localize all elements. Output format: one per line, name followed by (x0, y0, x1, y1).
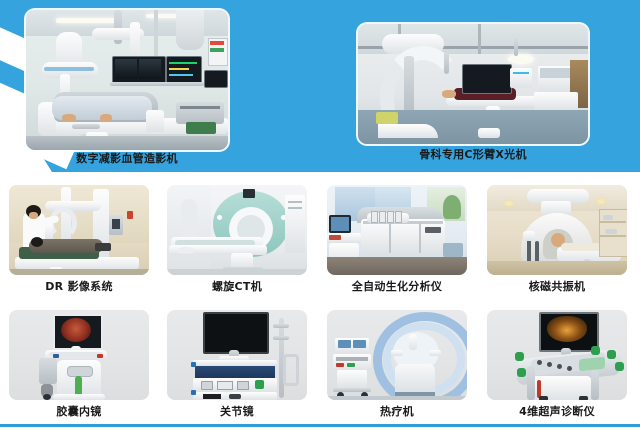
equipment-showcase-page: 数字减影血管造影机 骨科专用C形臂X光机 (0, 0, 640, 431)
thumb-photo-analyzer[interactable] (327, 185, 467, 275)
thumb-photo-ct[interactable] (167, 185, 307, 275)
thumb-photo-arthro[interactable] (167, 310, 307, 400)
grid-cell-analyzer[interactable]: 全自动生化分析仪 (322, 185, 472, 294)
thumb-photo-mri[interactable] (487, 185, 627, 275)
grid-caption-capsule: 胶囊内镜 (4, 405, 154, 419)
hero-caption-c-arm: 骨科专用C形臂X光机 (358, 148, 588, 162)
grid-cell-arthro[interactable]: 关节镜 (162, 310, 312, 419)
hero-caption-dsa: 数字减影血管造影机 (26, 152, 228, 166)
grid-cell-ultrasound[interactable]: 4维超声诊断仪 (482, 310, 632, 419)
grid-caption-hyperthermia: 热疗机 (322, 405, 472, 419)
grid-caption-mri: 核磁共振机 (482, 280, 632, 294)
grid-cell-hyperthermia[interactable]: 热疗机 (322, 310, 472, 419)
grid-cell-ct[interactable]: 螺旋CT机 (162, 185, 312, 294)
grid-caption-ct: 螺旋CT机 (162, 280, 312, 294)
grid-cell-dr[interactable]: DR 影像系统 (4, 185, 154, 294)
grid-caption-ultrasound: 4维超声诊断仪 (482, 405, 632, 419)
grid-cell-mri[interactable]: 核磁共振机 (482, 185, 632, 294)
thumb-photo-dr[interactable] (9, 185, 149, 275)
hero-photo-dsa[interactable] (26, 10, 228, 150)
grid-cell-capsule[interactable]: 胶囊内镜 (4, 310, 154, 419)
thumb-photo-ultrasound[interactable] (487, 310, 627, 400)
hero-photo-c-arm[interactable] (358, 24, 588, 144)
grid-caption-dr: DR 影像系统 (4, 280, 154, 294)
grid-caption-arthro: 关节镜 (162, 405, 312, 419)
grid-caption-analyzer: 全自动生化分析仪 (322, 280, 472, 294)
thumb-photo-hyperthermia[interactable] (327, 310, 467, 400)
thumb-photo-capsule[interactable] (9, 310, 149, 400)
footer-rule (0, 424, 640, 427)
